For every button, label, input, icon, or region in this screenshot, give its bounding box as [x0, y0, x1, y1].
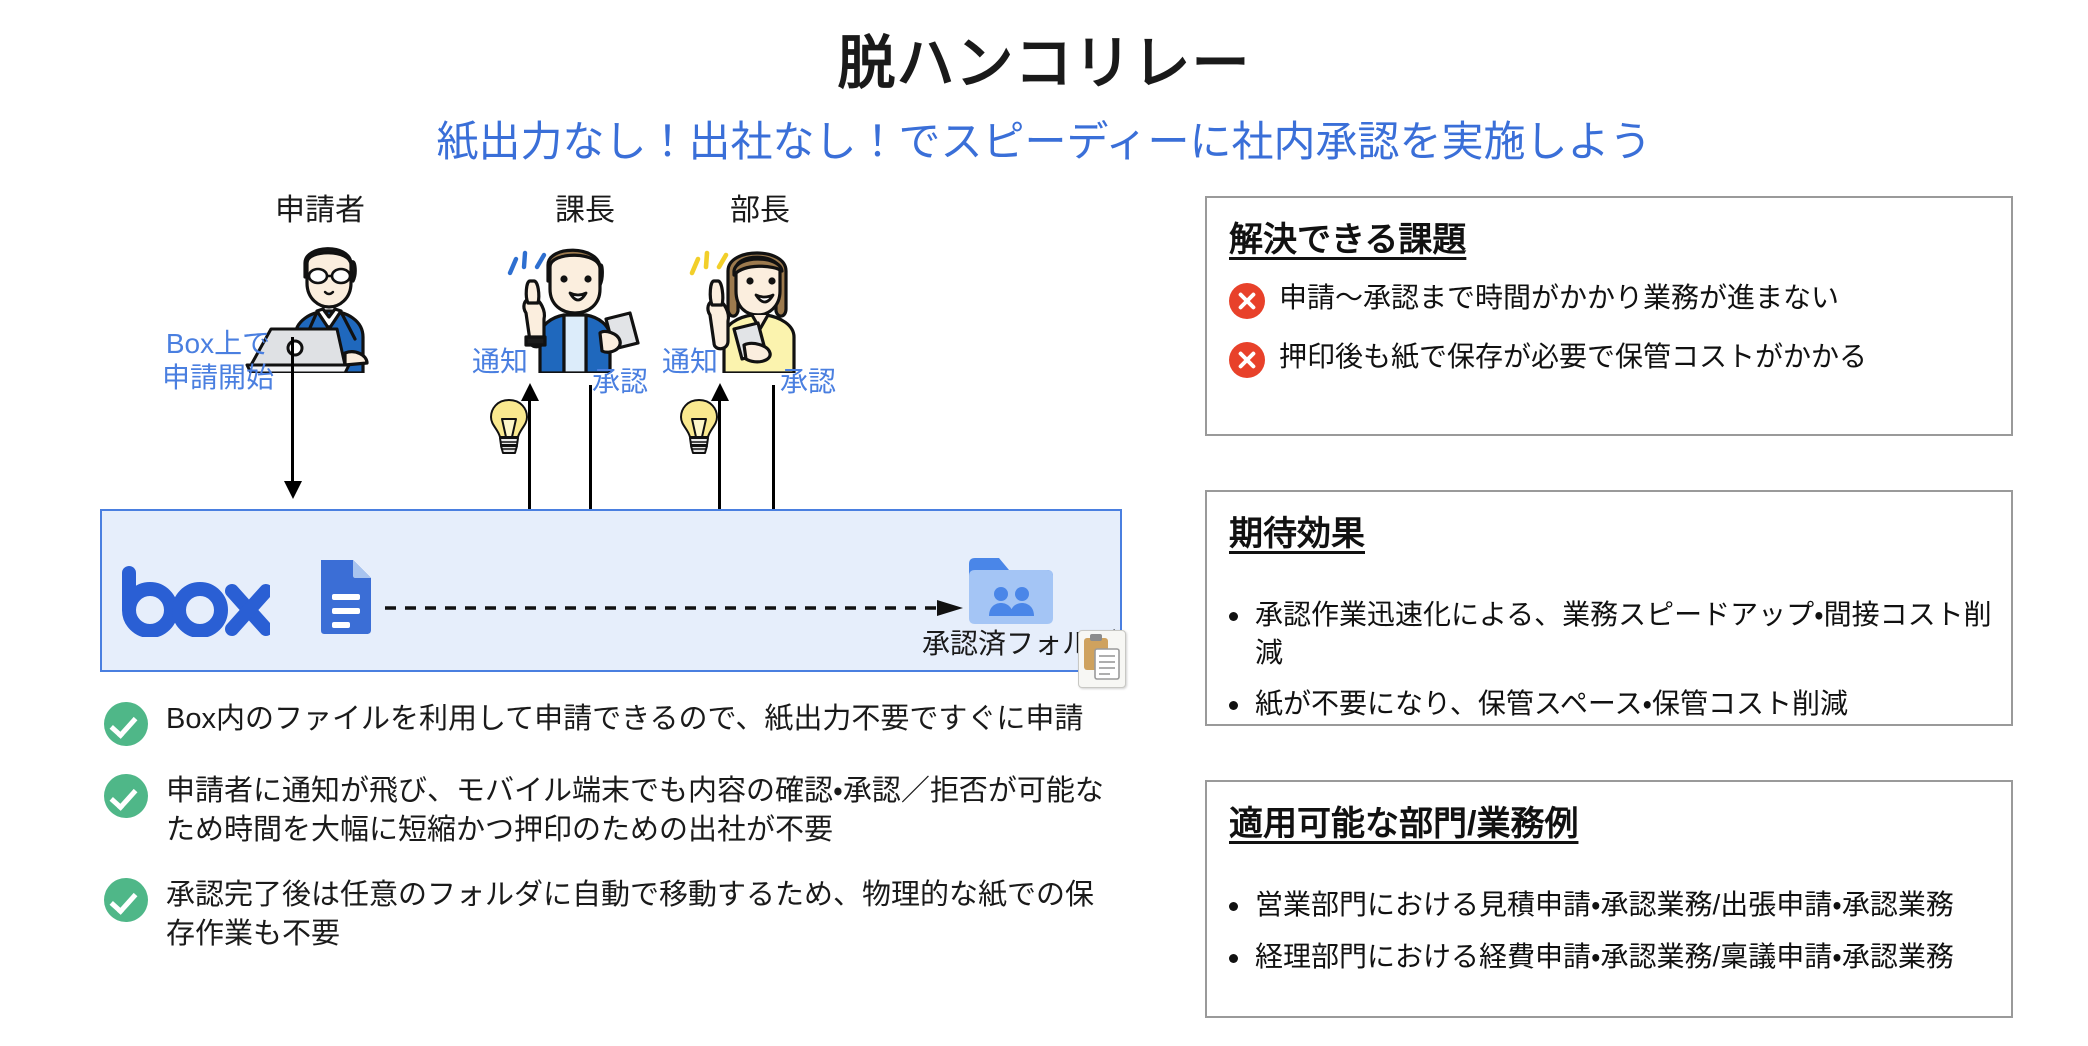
flow-label-start-request-line1: Box上で — [166, 328, 270, 359]
issue-text: 申請～承認まで時間がかかり業務が進まない — [1279, 280, 1839, 316]
benefits-list: Box内のファイルを利用して申請できるので、紙出力不要ですぐに申請 申請者に通知… — [104, 700, 1164, 979]
list-item: 申請～承認まで時間がかかり業務が進まない — [1229, 280, 1995, 319]
list-item: 承認完了後は任意のフォルダに自動で移動するため、物理的な紙での保存作業も不要 — [104, 876, 1164, 954]
box-logo — [120, 565, 270, 642]
shared-folder-icon — [965, 552, 1057, 633]
benefit-text: 承認完了後は任意のフォルダに自動で移動するため、物理的な紙での保存作業も不要 — [166, 876, 1106, 954]
x-circle-icon — [1229, 283, 1265, 319]
lightbulb-icon-notify-2 — [678, 397, 720, 464]
x-circle-icon — [1229, 342, 1265, 378]
arrow-line-approve-2-down — [772, 385, 775, 519]
page-subtitle: 紙出力なし！出社なし！でスピーディーに社内承認を実施しよう — [0, 108, 2088, 169]
person-label-applicant: 申請者 — [230, 185, 410, 229]
bullet-dot-icon — [1229, 612, 1238, 621]
flow-label-notify-2: 通知 — [650, 345, 730, 378]
flow-label-notify-1: 通知 — [460, 345, 540, 378]
list-item: 申請者に通知が飛び、モバイル端末でも内容の確認・承認／拒否が可能なため時間を大幅… — [104, 772, 1164, 850]
effect-text: 承認作業迅速化による、業務スピードアップ・間接コスト削減 — [1255, 596, 1995, 671]
arrow-line-approve-1-down — [589, 385, 592, 519]
flow-label-approve-2: 承認 — [768, 365, 848, 398]
list-item: 経理部門における経費申請・承認業務/稟議申請・承認業務 — [1229, 938, 1995, 976]
document-icon — [315, 558, 375, 641]
arrow-line-notify-2-up — [718, 399, 721, 517]
page-title: 脱ハンコリレー — [0, 16, 2088, 100]
clipboard-paste-icon — [1078, 630, 1126, 688]
benefit-text: 申請者に通知が飛び、モバイル端末でも内容の確認・承認／拒否が可能なため時間を大幅… — [166, 772, 1106, 850]
check-circle-icon — [104, 774, 148, 818]
effect-text: 紙が不要になり、保管スペース・保管コスト削減 — [1255, 685, 1848, 723]
check-circle-icon — [104, 878, 148, 922]
issue-text: 押印後も紙で保存が必要で保管コストがかかる — [1279, 339, 1867, 375]
issues-panel: 解決できる課題 申請～承認まで時間がかかり業務が進まない 押印後も紙で保存が必要… — [1205, 196, 2013, 436]
flow-label-start-request-line2: 申請開始 — [162, 362, 274, 393]
arrow-head-applicant-down — [284, 481, 302, 499]
list-item: Box内のファイルを利用して申請できるので、紙出力不要ですぐに申請 — [104, 700, 1164, 746]
lightbulb-icon-notify-1 — [488, 397, 530, 464]
departments-panel: 適用可能な部門/業務例 営業部門における見積申請・承認業務/出張申請・承認業務 … — [1205, 780, 2013, 1018]
list-item: 押印後も紙で保存が必要で保管コストがかかる — [1229, 339, 1995, 378]
flow-label-start-request: Box上で 申請開始 — [148, 327, 288, 394]
effects-panel: 期待効果 承認作業迅速化による、業務スピードアップ・間接コスト削減 紙が不要にな… — [1205, 490, 2013, 726]
slide-root: 脱ハンコリレー 紙出力なし！出社なし！でスピーディーに社内承認を実施しよう 申請… — [0, 0, 2088, 1046]
list-item: 紙が不要になり、保管スペース・保管コスト削減 — [1229, 685, 1995, 723]
person-label-section-manager: 課長 — [495, 185, 675, 229]
bullet-dot-icon — [1229, 701, 1238, 710]
check-circle-icon — [104, 702, 148, 746]
person-label-department-manager: 部長 — [670, 185, 850, 229]
department-text: 経理部門における経費申請・承認業務/稟議申請・承認業務 — [1255, 938, 1954, 976]
issues-panel-title: 解決できる課題 — [1229, 212, 1466, 261]
list-item: 承認作業迅速化による、業務スピードアップ・間接コスト削減 — [1229, 596, 1995, 671]
effects-panel-title: 期待効果 — [1229, 506, 1365, 555]
departments-panel-title: 適用可能な部門/業務例 — [1229, 796, 1578, 845]
flow-label-approve-1: 承認 — [580, 365, 660, 398]
arrow-line-notify-1-up — [528, 399, 531, 517]
move-to-folder-arrow — [385, 600, 960, 603]
bullet-dot-icon — [1229, 954, 1238, 963]
arrow-line-applicant-down — [291, 337, 294, 489]
list-item: 営業部門における見積申請・承認業務/出張申請・承認業務 — [1229, 886, 1995, 924]
department-text: 営業部門における見積申請・承認業務/出張申請・承認業務 — [1255, 886, 1954, 924]
bullet-dot-icon — [1229, 902, 1238, 911]
benefit-text: Box内のファイルを利用して申請できるので、紙出力不要ですぐに申請 — [166, 700, 1083, 739]
